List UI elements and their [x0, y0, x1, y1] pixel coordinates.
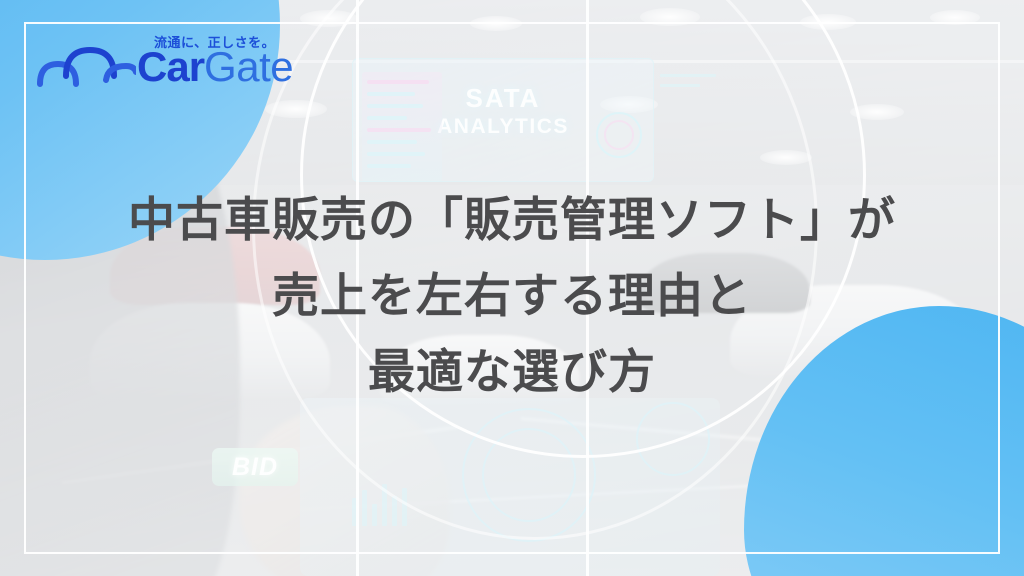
cloud-arcs-icon [36, 44, 136, 88]
logo-wordmark: CarGate [137, 46, 293, 88]
logo-word-car: Car [137, 43, 204, 90]
logo-word-gate: Gate [204, 43, 293, 90]
headline-line-2: 売上を左右する理由と [0, 258, 1024, 334]
cargate-logo[interactable]: 流通に、正しさを。 CarGate [36, 28, 316, 100]
headline-line-3: 最適な選び方 [0, 334, 1024, 410]
page-title: 中古車販売の「販売管理ソフト」が 売上を左右する理由と 最適な選び方 [0, 182, 1024, 410]
blog-header-banner: SATA ANALYTICS BID [0, 0, 1024, 576]
headline-line-1: 中古車販売の「販売管理ソフト」が [0, 182, 1024, 258]
